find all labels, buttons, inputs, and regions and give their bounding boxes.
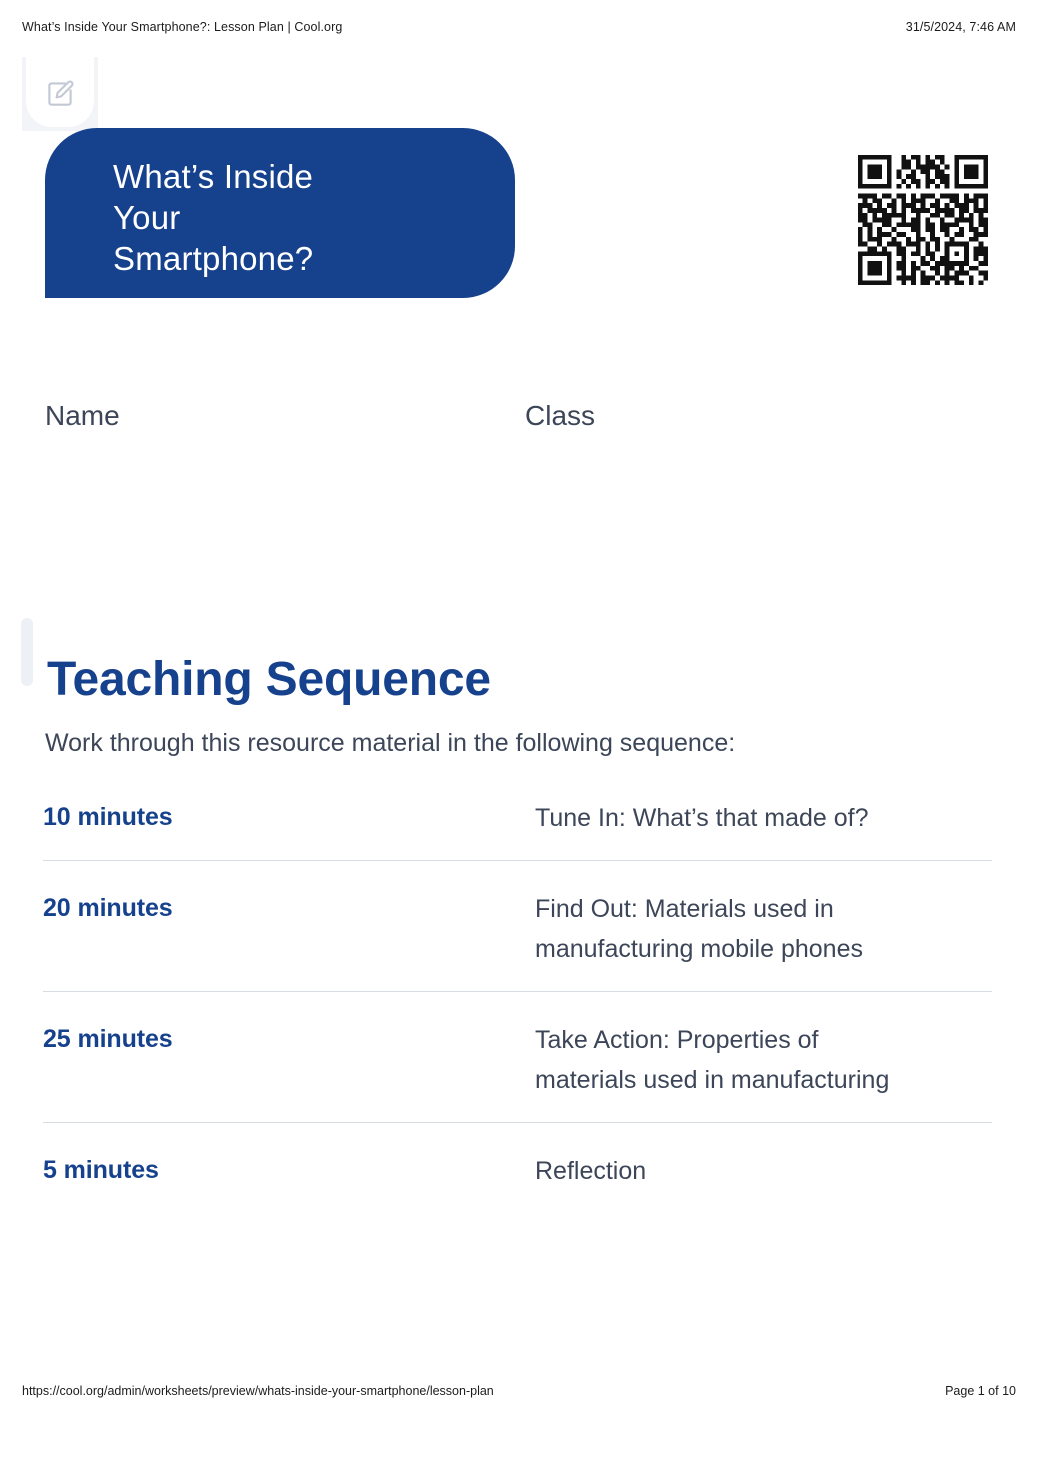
- qr-code[interactable]: [853, 150, 993, 290]
- lesson-title-text: What’s Inside Your Smartphone?: [113, 156, 475, 279]
- table-row: 20 minutes Find Out: Materials used in m…: [43, 860, 992, 991]
- print-footer: https://cool.org/admin/worksheets/previe…: [22, 1382, 1016, 1400]
- edit-pencil-square-icon: [45, 79, 75, 109]
- row-duration: 10 minutes: [43, 798, 535, 836]
- edit-button[interactable]: [26, 57, 94, 127]
- row-description: Reflection: [535, 1151, 992, 1191]
- teaching-sequence-table: 10 minutes Tune In: What’s that made of?…: [43, 788, 992, 1213]
- qr-code-image: [853, 150, 993, 290]
- table-row: 25 minutes Take Action: Properties of ma…: [43, 991, 992, 1122]
- lesson-title-badge: What’s Inside Your Smartphone?: [45, 128, 515, 298]
- row-description: Tune In: What’s that made of?: [535, 798, 992, 838]
- print-header: What’s Inside Your Smartphone?: Lesson P…: [22, 18, 1016, 36]
- section-intro-text: Work through this resource material in t…: [45, 724, 735, 762]
- print-footer-page: Page 1 of 10: [945, 1384, 1016, 1398]
- row-duration: 20 minutes: [43, 889, 535, 927]
- print-header-title: What’s Inside Your Smartphone?: Lesson P…: [22, 20, 342, 34]
- table-row: 10 minutes Tune In: What’s that made of?: [43, 788, 992, 860]
- table-row: 5 minutes Reflection: [43, 1122, 992, 1213]
- row-duration: 25 minutes: [43, 1020, 535, 1058]
- student-fields: Name Class: [45, 396, 945, 436]
- print-footer-url: https://cool.org/admin/worksheets/previe…: [22, 1384, 494, 1398]
- print-header-timestamp: 31/5/2024, 7:46 AM: [906, 20, 1016, 34]
- class-field-label: Class: [525, 396, 595, 436]
- row-description: Find Out: Materials used in manufacturin…: [535, 889, 992, 969]
- section-accent-bar: [21, 618, 33, 686]
- page-title: Teaching Sequence: [47, 644, 491, 716]
- row-duration: 5 minutes: [43, 1151, 535, 1189]
- row-description: Take Action: Properties of materials use…: [535, 1020, 992, 1100]
- name-field-label: Name: [45, 396, 120, 436]
